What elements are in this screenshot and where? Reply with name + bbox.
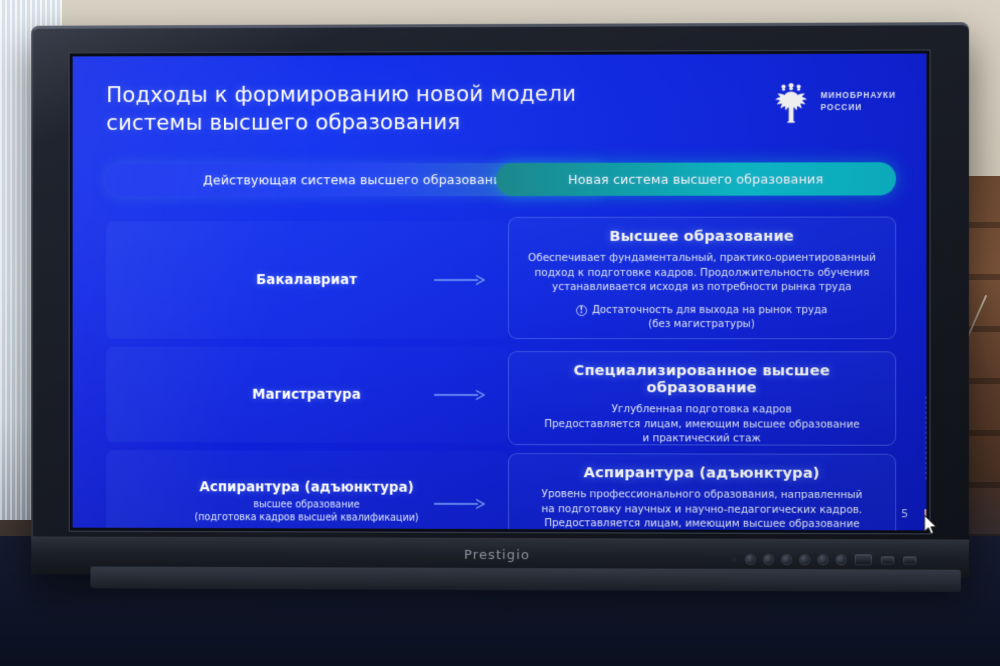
he-body-line-2: подход к подготовке кадров. Продолжитель… xyxy=(535,266,870,278)
bezel-button-1[interactable] xyxy=(746,555,755,564)
logo-line-2: РОССИИ xyxy=(821,103,863,112)
new-system-column: Высшее образование Обеспечивает фундамен… xyxy=(508,215,896,511)
note-row: ! Достаточность для выхода на рынок труд… xyxy=(523,304,881,319)
prestigio-display: Подходы к формированию новой модели сист… xyxy=(31,22,969,578)
bezel-button-4[interactable] xyxy=(800,555,809,564)
system-comparison-pills: Действующая система высшего образования … xyxy=(106,162,896,196)
left-postgrad-sub-line-1: высшее образование xyxy=(253,499,359,510)
power-led-icon xyxy=(732,557,737,562)
arrow-bachelor-icon xyxy=(434,273,486,287)
card-higher-education-body: Обеспечивает фундаментальный, практико-о… xyxy=(523,251,881,295)
left-row-postgrad-title: Аспирантура (адъюнктура) xyxy=(199,480,413,496)
card-higher-education-title: Высшее образование xyxy=(523,228,881,245)
card-specialized-education-body: Углубленная подготовка кадров Предоставл… xyxy=(523,402,881,446)
mouse-cursor xyxy=(923,514,938,535)
pg-body-line-2: на подготовку научных и научно-педагогич… xyxy=(542,503,863,516)
display-brand-label: Prestigio xyxy=(464,548,530,563)
he-note-line-2: (без магистратуры) xyxy=(523,318,881,333)
he-body-line-1: Обеспечивает фундаментальный, практико-о… xyxy=(528,252,876,264)
slide-content: Подходы к формированию новой модели сист… xyxy=(73,54,927,531)
left-postgrad-sub-line-2: (подготовка кадров высшей квалификации) xyxy=(195,512,419,524)
he-note-line-1: Достаточность для выхода на рынок труда xyxy=(592,304,828,319)
card-postgraduate-body: Уровень профессионального образования, н… xyxy=(523,487,881,530)
left-row-postgrad-sub: высшее образование (подготовка кадров вы… xyxy=(195,498,419,525)
card-higher-education[interactable]: Высшее образование Обеспечивает фундамен… xyxy=(508,217,896,340)
bezel-button-5[interactable] xyxy=(818,555,827,564)
se-body-line-1: Углубленная подготовка кадров xyxy=(612,403,792,415)
he-body-line-3: устанавливается исходя из потребности ры… xyxy=(552,281,852,293)
left-row-master-title: Магистратура xyxy=(252,387,361,402)
slide-page-number: 5 xyxy=(901,507,908,520)
se-body-line-3: и практический стаж xyxy=(642,432,760,444)
port-usb-1 xyxy=(881,556,894,564)
card-postgraduate-title: Аспирантура (адъюнктура) xyxy=(523,464,881,482)
card-postgraduate[interactable]: Аспирантура (адъюнктура) Уровень професс… xyxy=(508,453,896,530)
left-row-postgrad: Аспирантура (адъюнктура) высшее образова… xyxy=(106,450,508,530)
pg-body-line-1: Уровень профессионального образования, н… xyxy=(542,488,863,501)
logo-line-1: МИНОБРНАУКИ xyxy=(821,91,897,100)
screen-frame: Подходы к формированию новой модели сист… xyxy=(69,49,931,534)
current-system-column: Бакалавриат Магистратура Аспирантура (ад… xyxy=(106,215,508,509)
display-stand-bar xyxy=(90,566,960,591)
bezel-button-2[interactable] xyxy=(764,555,773,564)
port-usb-2 xyxy=(903,556,916,564)
left-row-bachelor-title: Бакалавриат xyxy=(256,273,357,288)
page-title: Подходы к формированию новой модели сист… xyxy=(106,80,664,137)
pg-body-line-3: Предоставляется лицам, имеющим высшее об… xyxy=(544,517,859,530)
screen-edge-artifact xyxy=(925,397,926,482)
title-line-2: системы высшего образования xyxy=(106,108,664,137)
se-body-line-2: Предоставляется лицам, имеющим высшее об… xyxy=(544,418,859,431)
ptz-conference-camera xyxy=(345,662,465,666)
card-specialized-education-title: Специализированное высшее образование xyxy=(523,362,881,396)
pill-new-system[interactable]: Новая система высшего образования xyxy=(496,162,896,196)
double-headed-eagle-icon xyxy=(771,80,811,124)
display-button-row[interactable] xyxy=(732,554,917,566)
ministry-logo-text: МИНОБРНАУКИ РОССИИ xyxy=(821,90,897,115)
arrow-master-icon xyxy=(434,388,486,402)
bezel-button-3[interactable] xyxy=(782,555,791,564)
arrow-postgrad-icon xyxy=(434,497,486,511)
presentation-screen[interactable]: Подходы к формированию новой модели сист… xyxy=(73,54,927,531)
ministry-logo: МИНОБРНАУКИ РОССИИ xyxy=(771,80,896,125)
card-higher-education-note: ! Достаточность для выхода на рынок труд… xyxy=(523,304,881,333)
card-specialized-education[interactable]: Специализированное высшее образование Уг… xyxy=(508,351,896,446)
bezel-button-6[interactable] xyxy=(837,555,846,564)
conference-room-scene: Подходы к формированию новой модели сист… xyxy=(0,0,1000,666)
comparison-columns: Бакалавриат Магистратура Аспирантура (ад… xyxy=(106,215,896,511)
port-hdmi xyxy=(855,554,872,565)
exclamation-circle-icon: ! xyxy=(576,305,587,316)
title-line-1: Подходы к формированию новой модели xyxy=(106,80,664,109)
